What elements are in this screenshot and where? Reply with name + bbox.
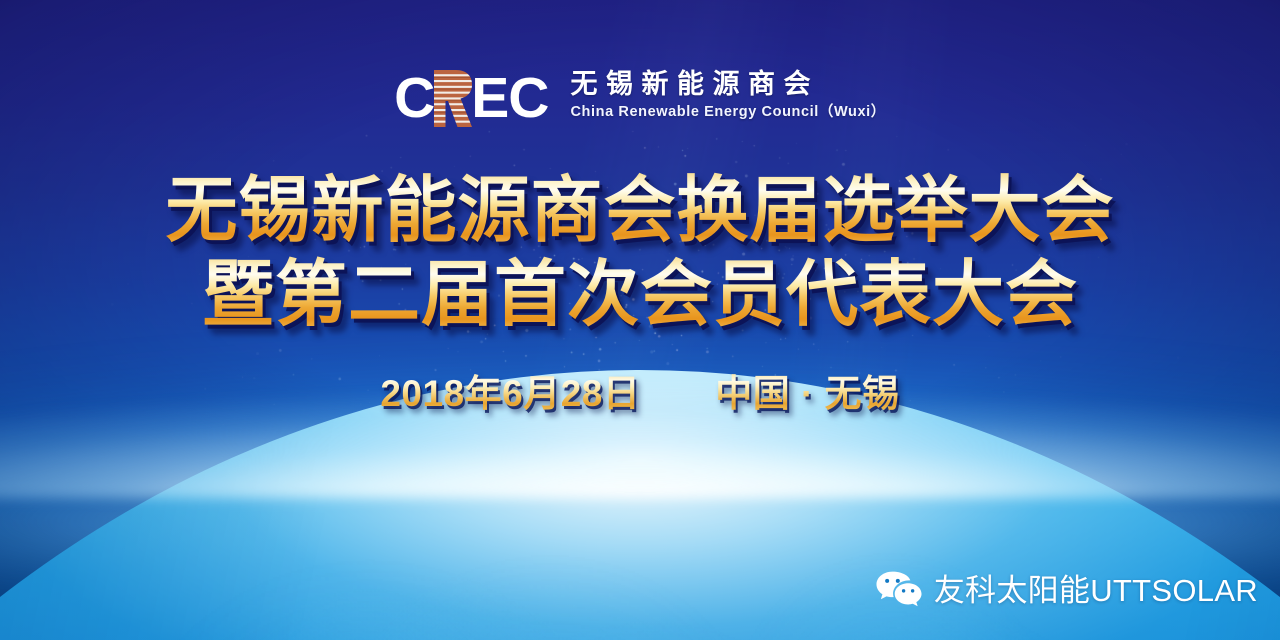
crec-logo: C <box>0 66 1280 126</box>
wechat-watermark: 友科太阳能UTTSOLAR <box>875 570 1258 610</box>
crec-logo-letter-c: C <box>394 70 434 127</box>
event-location: 中国 · 无锡 <box>715 374 899 415</box>
event-title-line-2: 暨第二届首次会员代表大会 <box>0 256 1280 334</box>
event-date: 2018年6月28日 <box>380 374 640 415</box>
wechat-icon <box>875 570 923 610</box>
crec-logo-letters-ec: EC <box>471 70 548 127</box>
crec-name-cn: 无锡新能源商会 <box>570 70 885 99</box>
crec-name-en: China Renewable Energy Council（Wuxi） <box>570 104 885 121</box>
wechat-watermark-text: 友科太阳能UTTSOLAR <box>934 575 1258 606</box>
crec-logo-wordmark: 无锡新能源商会 China Renewable Energy Council（W… <box>570 66 885 121</box>
solar-stripe-r-icon <box>431 70 473 127</box>
event-title-line-1: 无锡新能源商会换届选举大会 <box>0 172 1280 250</box>
crec-logo-mark: C <box>394 68 548 128</box>
event-meta: 2018年6月28日 中国 · 无锡 <box>0 374 1280 415</box>
banner-poster: C <box>0 0 1280 640</box>
event-title: 无锡新能源商会换届选举大会 暨第二届首次会员代表大会 <box>0 172 1280 335</box>
earth-limb-glow <box>0 348 1280 498</box>
